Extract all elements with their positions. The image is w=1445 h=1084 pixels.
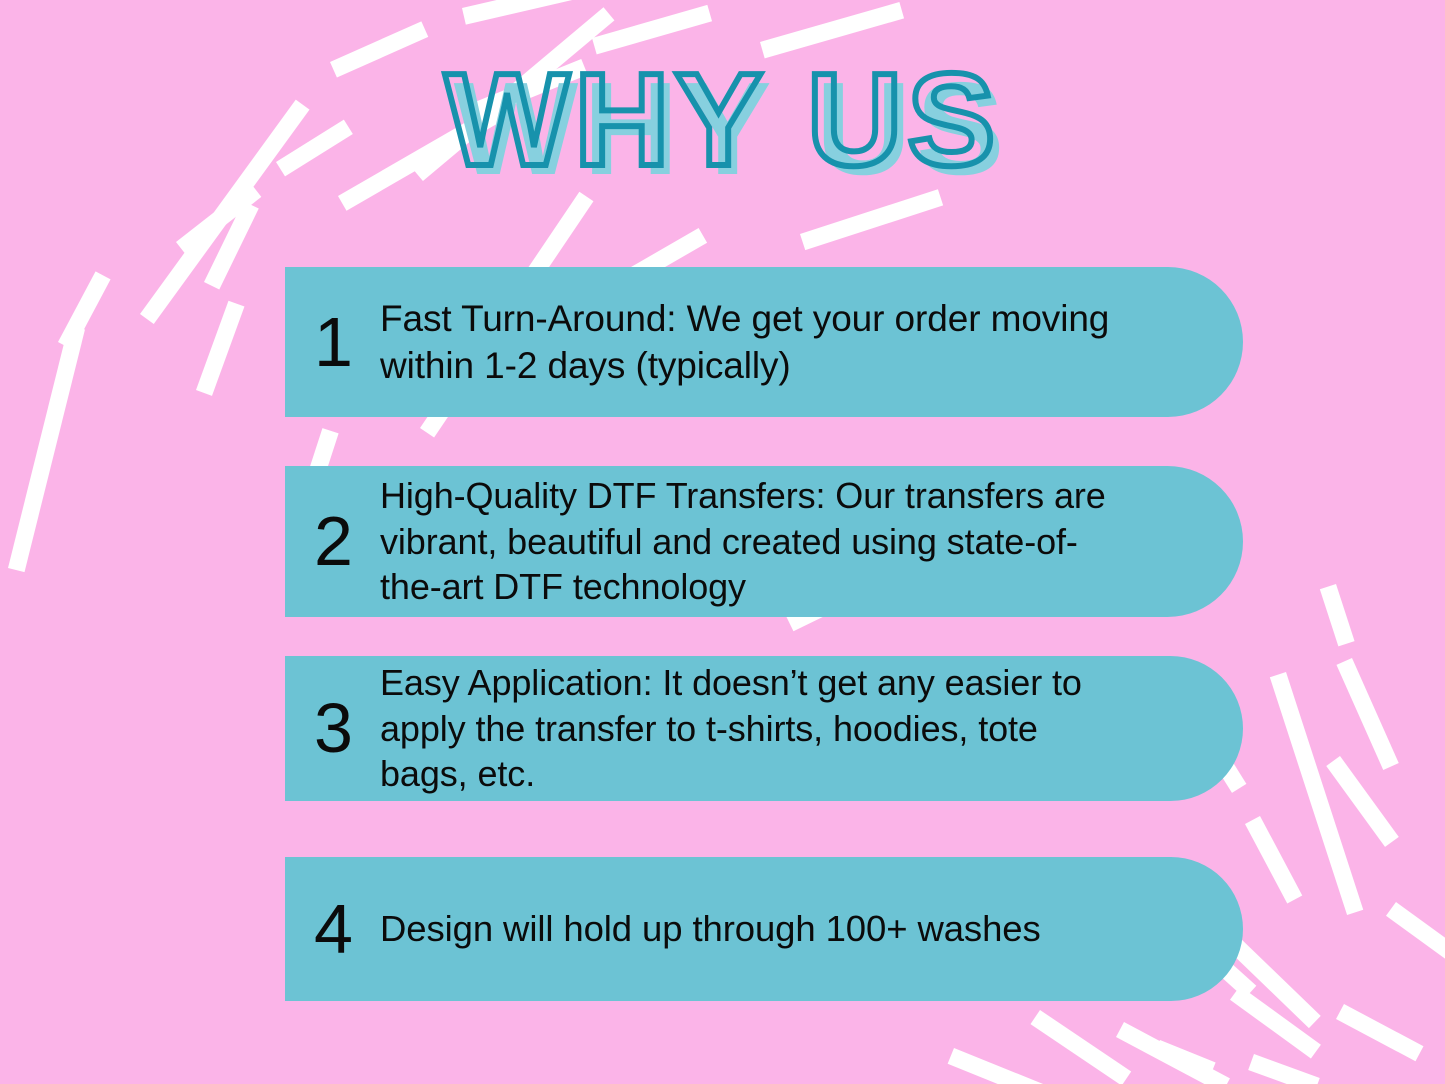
feature-card-number: 2	[314, 508, 380, 575]
feature-card-list: 1 Fast Turn-Around: We get your order mo…	[285, 267, 1243, 1001]
feature-card-text: Fast Turn-Around: We get your order movi…	[380, 295, 1123, 390]
feature-card-text: High-Quality DTF Transfers: Our transfer…	[380, 473, 1123, 610]
feature-card: 3 Easy Application: It doesn’t get any e…	[285, 656, 1243, 801]
feature-card: 1 Fast Turn-Around: We get your order mo…	[285, 267, 1243, 417]
feature-card: 2 High-Quality DTF Transfers: Our transf…	[285, 466, 1243, 617]
feature-card-number: 3	[314, 695, 380, 762]
feature-card-text: Easy Application: It doesn’t get any eas…	[380, 660, 1123, 797]
feature-card-number: 4	[314, 896, 380, 963]
page-title-outline: WHY US	[0, 44, 1445, 196]
page-title: WHY US WHY US	[0, 44, 1445, 196]
feature-card-text: Design will hold up through 100+ washes	[380, 906, 1123, 953]
why-us-poster: WHY US WHY US 1 Fast Turn-Around: We get…	[0, 0, 1445, 1084]
feature-card-number: 1	[314, 309, 380, 376]
feature-card: 4 Design will hold up through 100+ washe…	[285, 857, 1243, 1001]
